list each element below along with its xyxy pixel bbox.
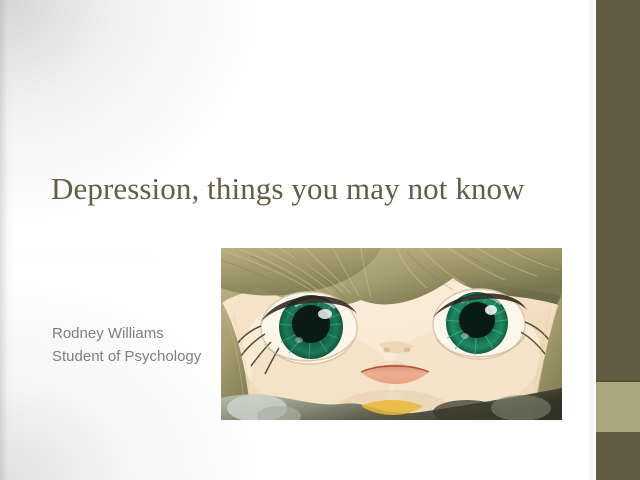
background-gradient-left-edge — [0, 0, 14, 480]
subtitle-line-role: Student of Psychology — [52, 345, 232, 368]
doll-face-photo-graphic — [221, 248, 562, 420]
background-gradient-top-left — [0, 0, 300, 260]
presentation-slide: Depression, things you may not know Rodn… — [0, 0, 640, 480]
sidebar-segment-bottom — [596, 432, 640, 480]
decorative-sidebar — [596, 0, 640, 480]
sidebar-segment-top — [596, 0, 640, 380]
doll-face-photo — [221, 248, 562, 420]
subtitle-line-author: Rodney Williams — [52, 322, 232, 345]
slide-subtitle: Rodney Williams Student of Psychology — [52, 322, 232, 368]
sidebar-segment-accent — [596, 382, 640, 432]
slide-title: Depression, things you may not know — [51, 170, 571, 208]
